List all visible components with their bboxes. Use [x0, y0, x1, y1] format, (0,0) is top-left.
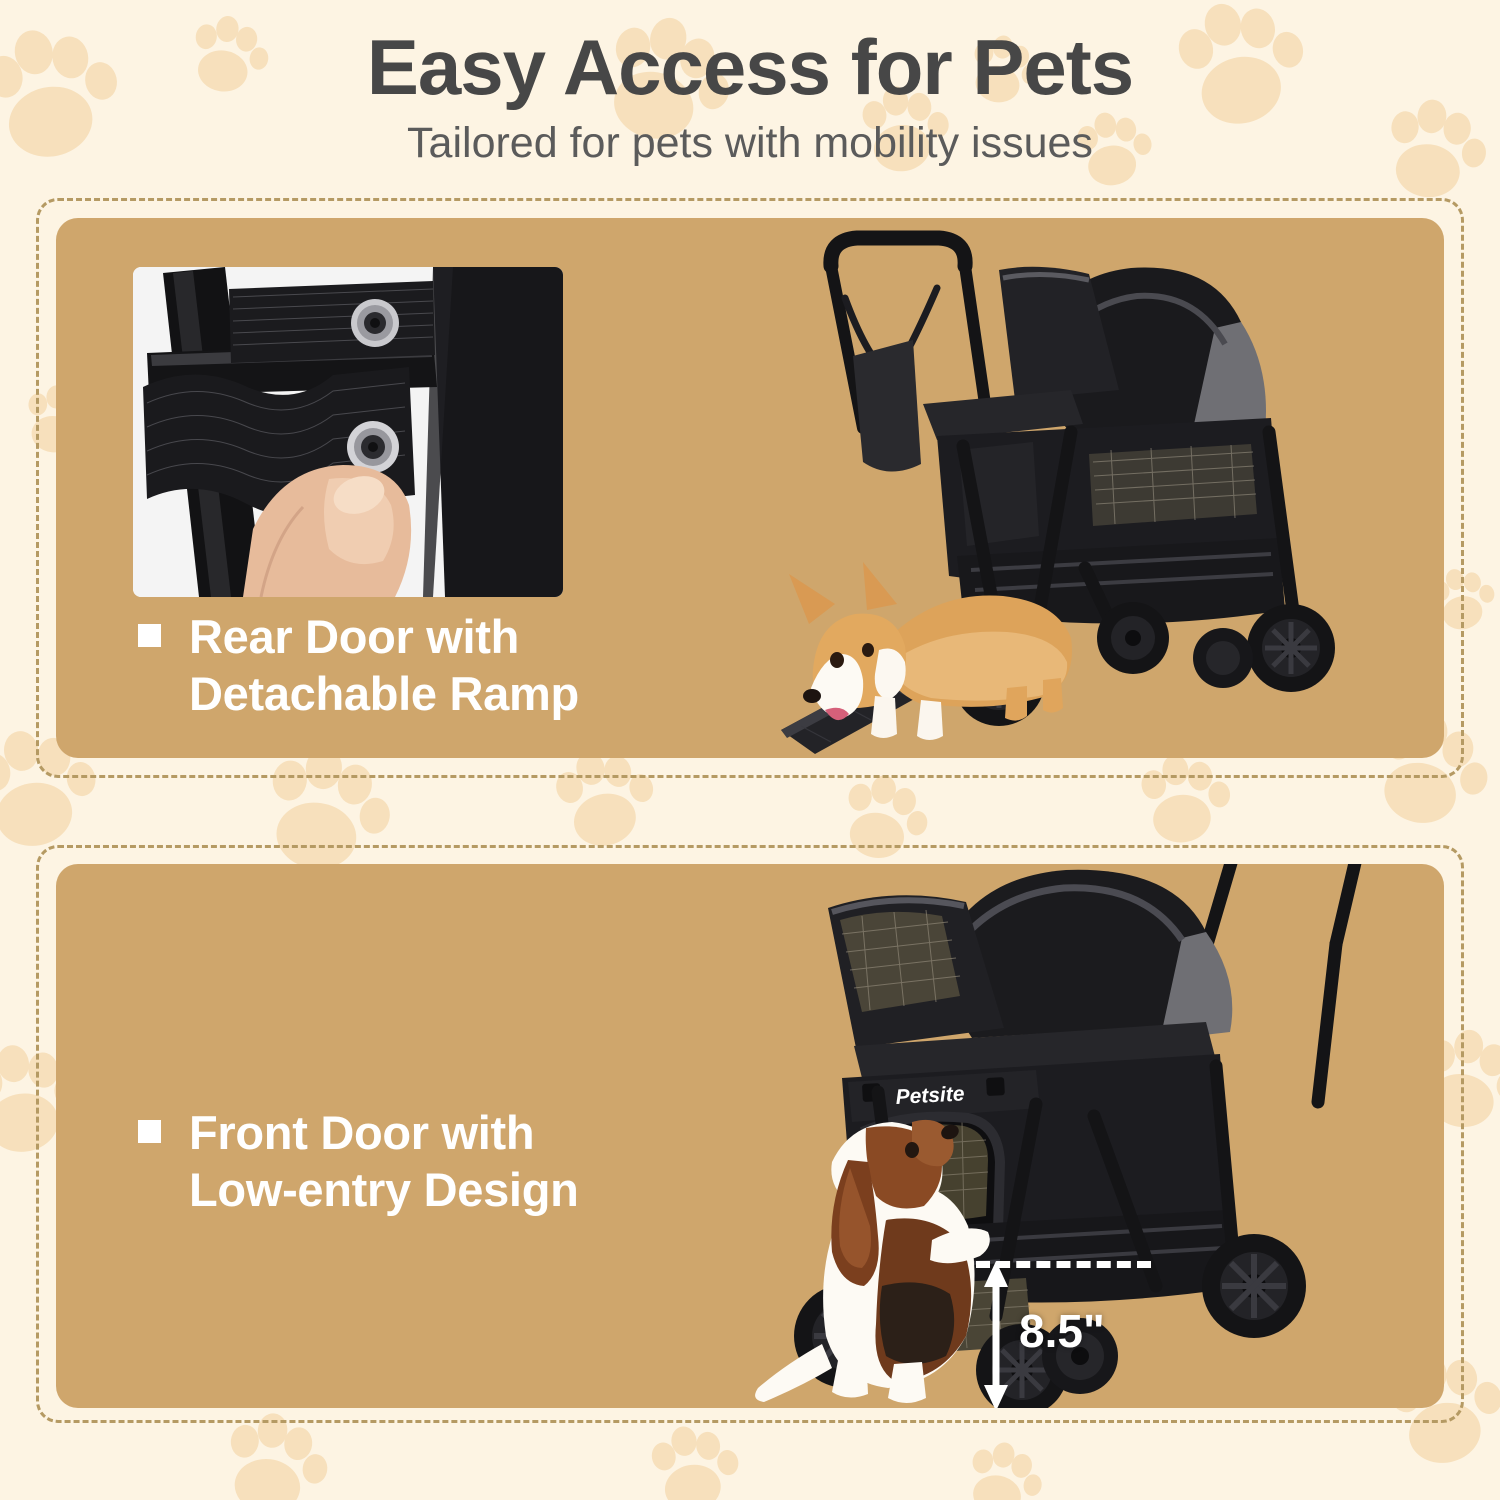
panel-background: Rear Door with Detachable Ramp: [56, 218, 1444, 758]
dimension-value: 8.5": [1019, 1304, 1105, 1358]
bullet-square-icon: [138, 624, 161, 647]
page-subtitle: Tailored for pets with mobility issues: [0, 106, 1500, 165]
side-bag: [853, 340, 921, 472]
feature-label-front-door: Front Door with Low-entry Design: [138, 1104, 579, 1219]
brand-logo: Petsite: [895, 1082, 965, 1109]
wheel: [1097, 602, 1169, 674]
feature-label-text: Front Door with Low-entry Design: [189, 1104, 579, 1219]
feature-label-line1: Rear Door with: [189, 610, 519, 663]
feature-label-line1: Front Door with: [189, 1106, 534, 1159]
wheel: [1247, 604, 1335, 692]
dimension-arrow: [983, 1261, 1009, 1408]
header: Easy Access for Pets Tailored for pets w…: [0, 0, 1500, 195]
feature-label-line2: Low-entry Design: [189, 1163, 579, 1216]
product-scene-rear-door: [771, 218, 1431, 758]
wheel: [1193, 628, 1253, 688]
wheel: [1202, 1234, 1306, 1338]
feature-label-rear-door: Rear Door with Detachable Ramp: [138, 608, 579, 723]
snap-button-upper: [351, 299, 399, 347]
panel-background: Front Door with Low-entry Design: [56, 864, 1444, 1408]
inset-photo-strap-detail: [133, 267, 563, 597]
feature-label-line2: Detachable Ramp: [189, 667, 579, 720]
feature-label-text: Rear Door with Detachable Ramp: [189, 608, 579, 723]
bullet-square-icon: [138, 1120, 161, 1143]
snap-button-lower: [347, 421, 399, 473]
page-title: Easy Access for Pets: [0, 0, 1500, 106]
